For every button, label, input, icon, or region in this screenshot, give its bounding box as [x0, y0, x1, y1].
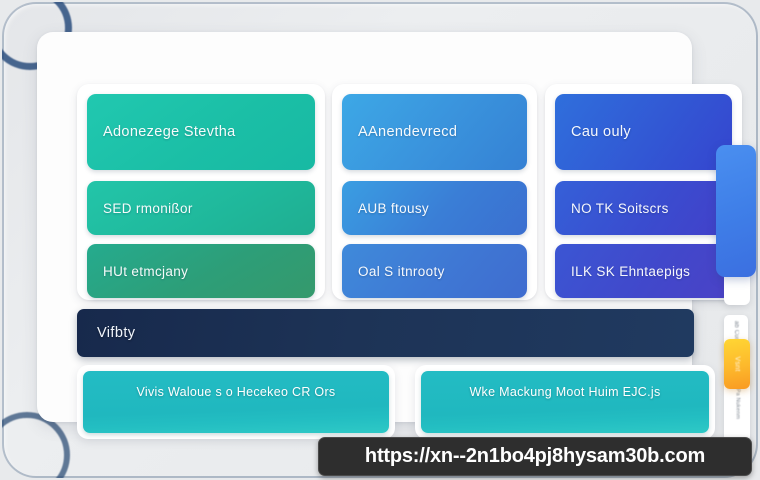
bottom-panel-right: Wke Mackung Moot Huim EJC.js [415, 365, 715, 439]
bottom-card-left[interactable]: Vivis Waloue s o Hecekeo CR Ors [83, 371, 389, 433]
card-label: ILK SK Ehntaepigs [571, 264, 690, 279]
bottom-card-label: Wke Mackung Moot Huim EJC.js [469, 385, 660, 399]
blue-side-tab[interactable] [716, 145, 756, 277]
card-teal-hero[interactable]: Adonezege Stevtha [87, 94, 315, 170]
card-indigo-row-1[interactable]: NO TK Soitscrs [555, 181, 732, 235]
dark-navy-bar-label: Vifbty [97, 325, 135, 341]
card-indigo-hero[interactable]: Cau ouly [555, 94, 732, 170]
url-banner-text: https://xn--2n1bo4pj8hysam30b.com [365, 445, 705, 468]
orange-badge[interactable]: Vsnt [724, 339, 750, 389]
screenshot-stage: Adonezege Stevtha SED rmonißor HUt etmcj… [0, 0, 760, 480]
bottom-panel-left: Vivis Waloue s o Hecekeo CR Ors [77, 365, 395, 439]
card-label: Cau ouly [571, 124, 631, 140]
column-panel-teal: Adonezege Stevtha SED rmonißor HUt etmcj… [77, 84, 325, 300]
dark-navy-bar[interactable]: Vifbty [77, 309, 694, 357]
card-label: AUB ftousy [358, 201, 429, 216]
side-strip-lower-label: Pa Nukenm [734, 389, 741, 420]
column-panel-indigo: Cau ouly NO TK Soitscrs ILK SK Ehntaepig… [545, 84, 742, 300]
card-label: Oal S itnrooty [358, 264, 445, 279]
card-teal-row-2[interactable]: HUt etmcjany [87, 244, 315, 298]
column-panel-light-blue: AAnendevrecd AUB ftousy Oal S itnrooty [332, 84, 537, 300]
card-label: SED rmonißor [103, 201, 193, 216]
device-frame: Adonezege Stevtha SED rmonißor HUt etmcj… [2, 2, 758, 478]
orange-badge-label: Vsnt [734, 356, 741, 371]
card-label: AAnendevrecd [358, 124, 457, 140]
card-indigo-row-2[interactable]: ILK SK Ehntaepigs [555, 244, 732, 298]
card-label: HUt etmcjany [103, 264, 188, 279]
card-teal-row-1[interactable]: SED rmonißor [87, 181, 315, 235]
card-label: Adonezege Stevtha [103, 124, 236, 140]
card-light-blue-hero[interactable]: AAnendevrecd [342, 94, 527, 170]
card-label: NO TK Soitscrs [571, 201, 669, 216]
card-light-blue-row-1[interactable]: AUB ftousy [342, 181, 527, 235]
bottom-card-right[interactable]: Wke Mackung Moot Huim EJC.js [421, 371, 709, 433]
card-light-blue-row-2[interactable]: Oal S itnrooty [342, 244, 527, 298]
app-surface: Adonezege Stevtha SED rmonißor HUt etmcj… [37, 32, 692, 422]
bottom-card-label: Vivis Waloue s o Hecekeo CR Ors [137, 385, 336, 399]
url-banner: https://xn--2n1bo4pj8hysam30b.com [318, 437, 752, 476]
